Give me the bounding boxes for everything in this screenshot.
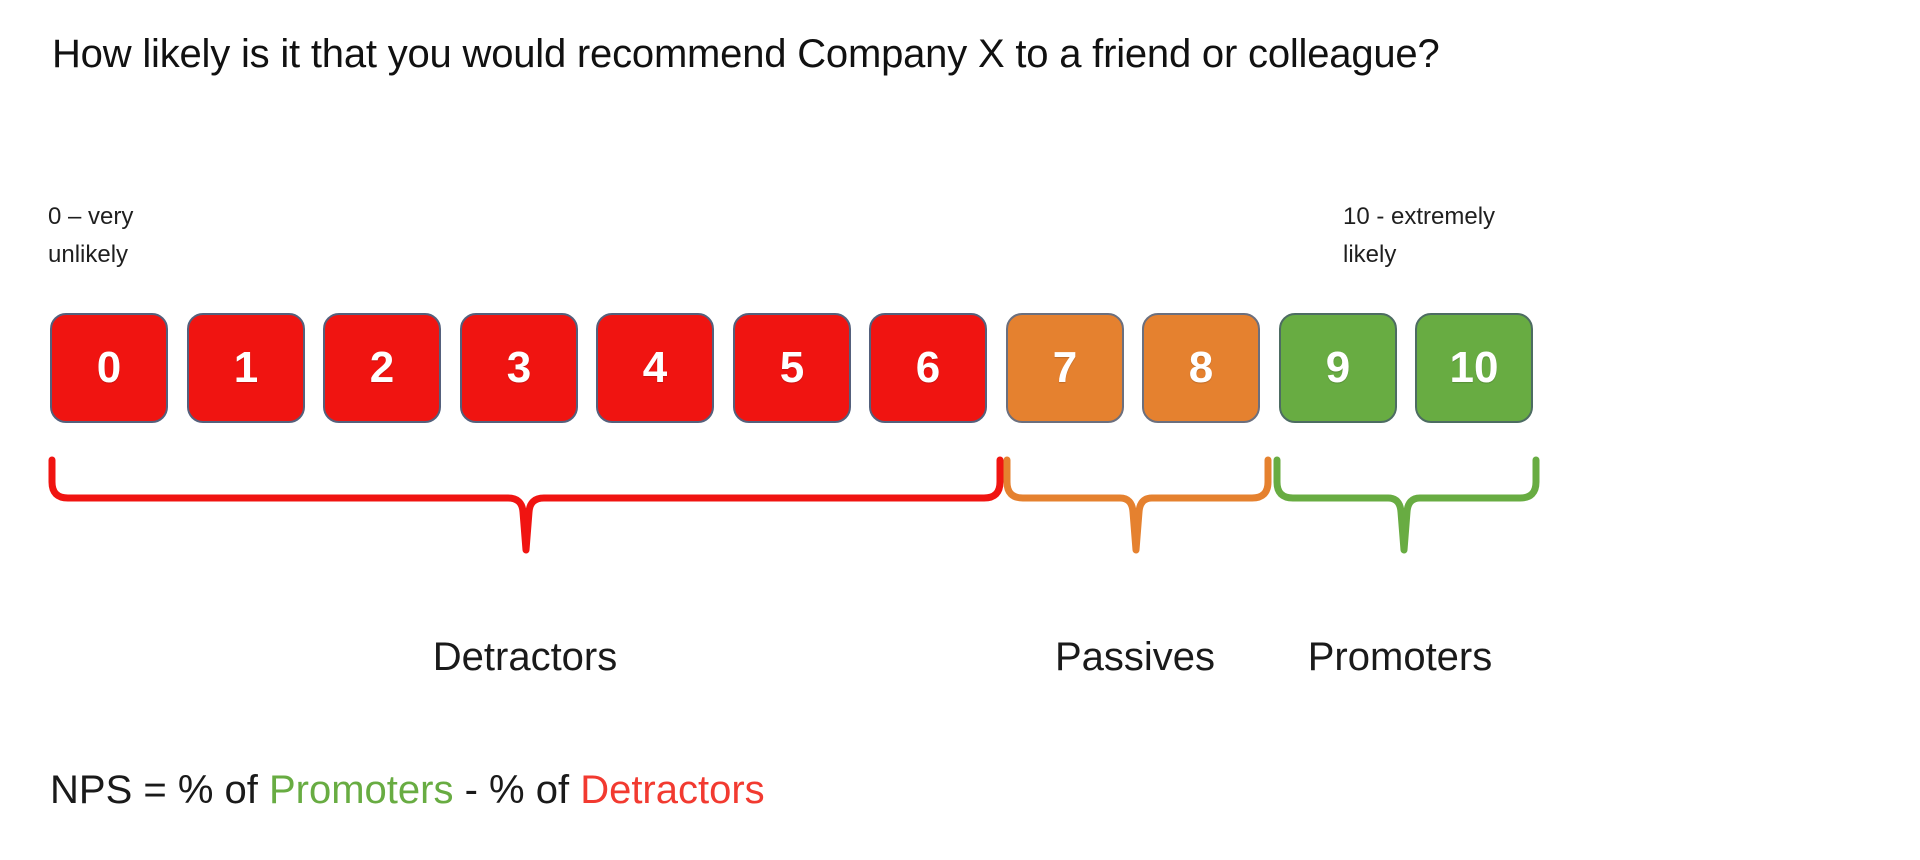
scale-box-label: 4 (643, 343, 667, 393)
scale-box-label: 3 (507, 343, 531, 393)
brace-detractors (52, 460, 1000, 550)
scale-box-label: 1 (234, 343, 258, 393)
scale-box-label: 2 (370, 343, 394, 393)
scale-box-8[interactable]: 8 (1142, 313, 1260, 423)
scale-box-7[interactable]: 7 (1006, 313, 1124, 423)
formula-prefix: NPS = % of (50, 768, 269, 812)
scale-box-6[interactable]: 6 (869, 313, 987, 423)
nps-formula: NPS = % of Promoters - % of Detractors (50, 768, 765, 813)
brace-promoters (1277, 460, 1536, 550)
scale-box-label: 8 (1189, 343, 1213, 393)
scale-box-label: 6 (916, 343, 940, 393)
scale-box-4[interactable]: 4 (596, 313, 714, 423)
scale-box-label: 0 (97, 343, 121, 393)
segment-braces (0, 440, 1920, 630)
scale-box-0[interactable]: 0 (50, 313, 168, 423)
scale-box-3[interactable]: 3 (460, 313, 578, 423)
scale-endpoint-label-high: 10 - extremely likely (1343, 198, 1495, 274)
formula-detractors-token: Detractors (580, 768, 765, 812)
scale-box-label: 9 (1326, 343, 1350, 393)
brace-passives (1007, 460, 1268, 550)
scale-box-label: 10 (1450, 343, 1499, 393)
scale-box-10[interactable]: 10 (1415, 313, 1533, 423)
scale-box-2[interactable]: 2 (323, 313, 441, 423)
nps-diagram: How likely is it that you would recommen… (0, 0, 1920, 860)
scale-box-9[interactable]: 9 (1279, 313, 1397, 423)
scale-box-1[interactable]: 1 (187, 313, 305, 423)
scale-box-5[interactable]: 5 (733, 313, 851, 423)
formula-promoters-token: Promoters (269, 768, 454, 812)
segment-label-detractors: Detractors (433, 635, 618, 680)
scale-endpoint-label-low: 0 – very unlikely (48, 198, 133, 274)
scale-box-label: 5 (780, 343, 804, 393)
nps-scale: 012345678910 (50, 313, 1550, 423)
scale-box-label: 7 (1053, 343, 1077, 393)
page-title: How likely is it that you would recommen… (52, 32, 1882, 77)
segment-label-passives: Passives (1055, 635, 1215, 680)
formula-middle: - % of (453, 768, 580, 812)
segment-label-promoters: Promoters (1308, 635, 1493, 680)
